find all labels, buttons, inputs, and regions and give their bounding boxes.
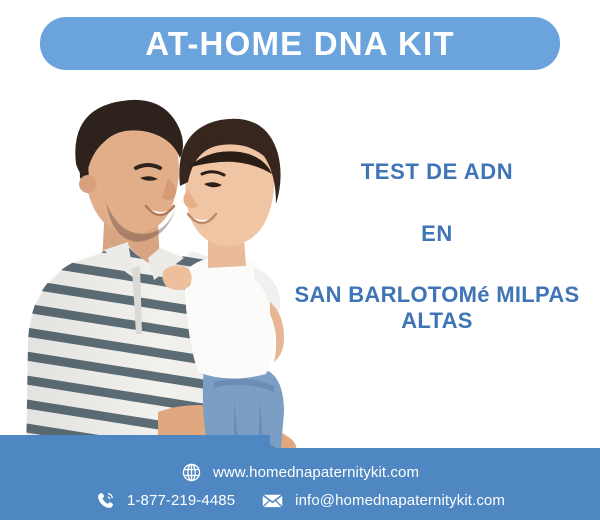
footer-email-label: info@homednapaternitykit.com	[295, 492, 505, 509]
promo-location-name: SAN BARLOTOMé MILPAS ALTAS	[282, 282, 592, 333]
footer-phone-label: 1-877-219-4485	[127, 492, 235, 509]
promo-service-label: TEST DE ADN	[282, 160, 592, 184]
header-banner: AT-HOME DNA KIT	[40, 17, 560, 70]
flyer-canvas: AT-HOME DNA KIT	[0, 0, 600, 520]
footer-website-item[interactable]: www.homednapaternitykit.com	[181, 462, 419, 483]
footer-phone-item[interactable]: 1-877-219-4485	[95, 490, 235, 511]
footer-website-label: www.homednapaternitykit.com	[213, 464, 419, 481]
footer-contact-bar: www.homednapaternitykit.com 1-877-219-44…	[0, 435, 600, 520]
phone-icon	[95, 490, 116, 511]
promo-preposition: EN	[282, 222, 592, 246]
promo-text-block: TEST DE ADN EN SAN BARLOTOMé MILPAS ALTA…	[282, 160, 592, 333]
footer-website-row: www.homednapaternitykit.com	[181, 462, 419, 483]
footer-email-item[interactable]: info@homednapaternitykit.com	[261, 489, 505, 512]
father-and-child-photo	[8, 82, 328, 460]
page-title: AT-HOME DNA KIT	[145, 27, 454, 60]
globe-icon	[181, 462, 202, 483]
envelope-icon	[261, 489, 284, 512]
footer-phone-email-row: 1-877-219-4485 info@homednapaternitykit.…	[95, 489, 505, 512]
